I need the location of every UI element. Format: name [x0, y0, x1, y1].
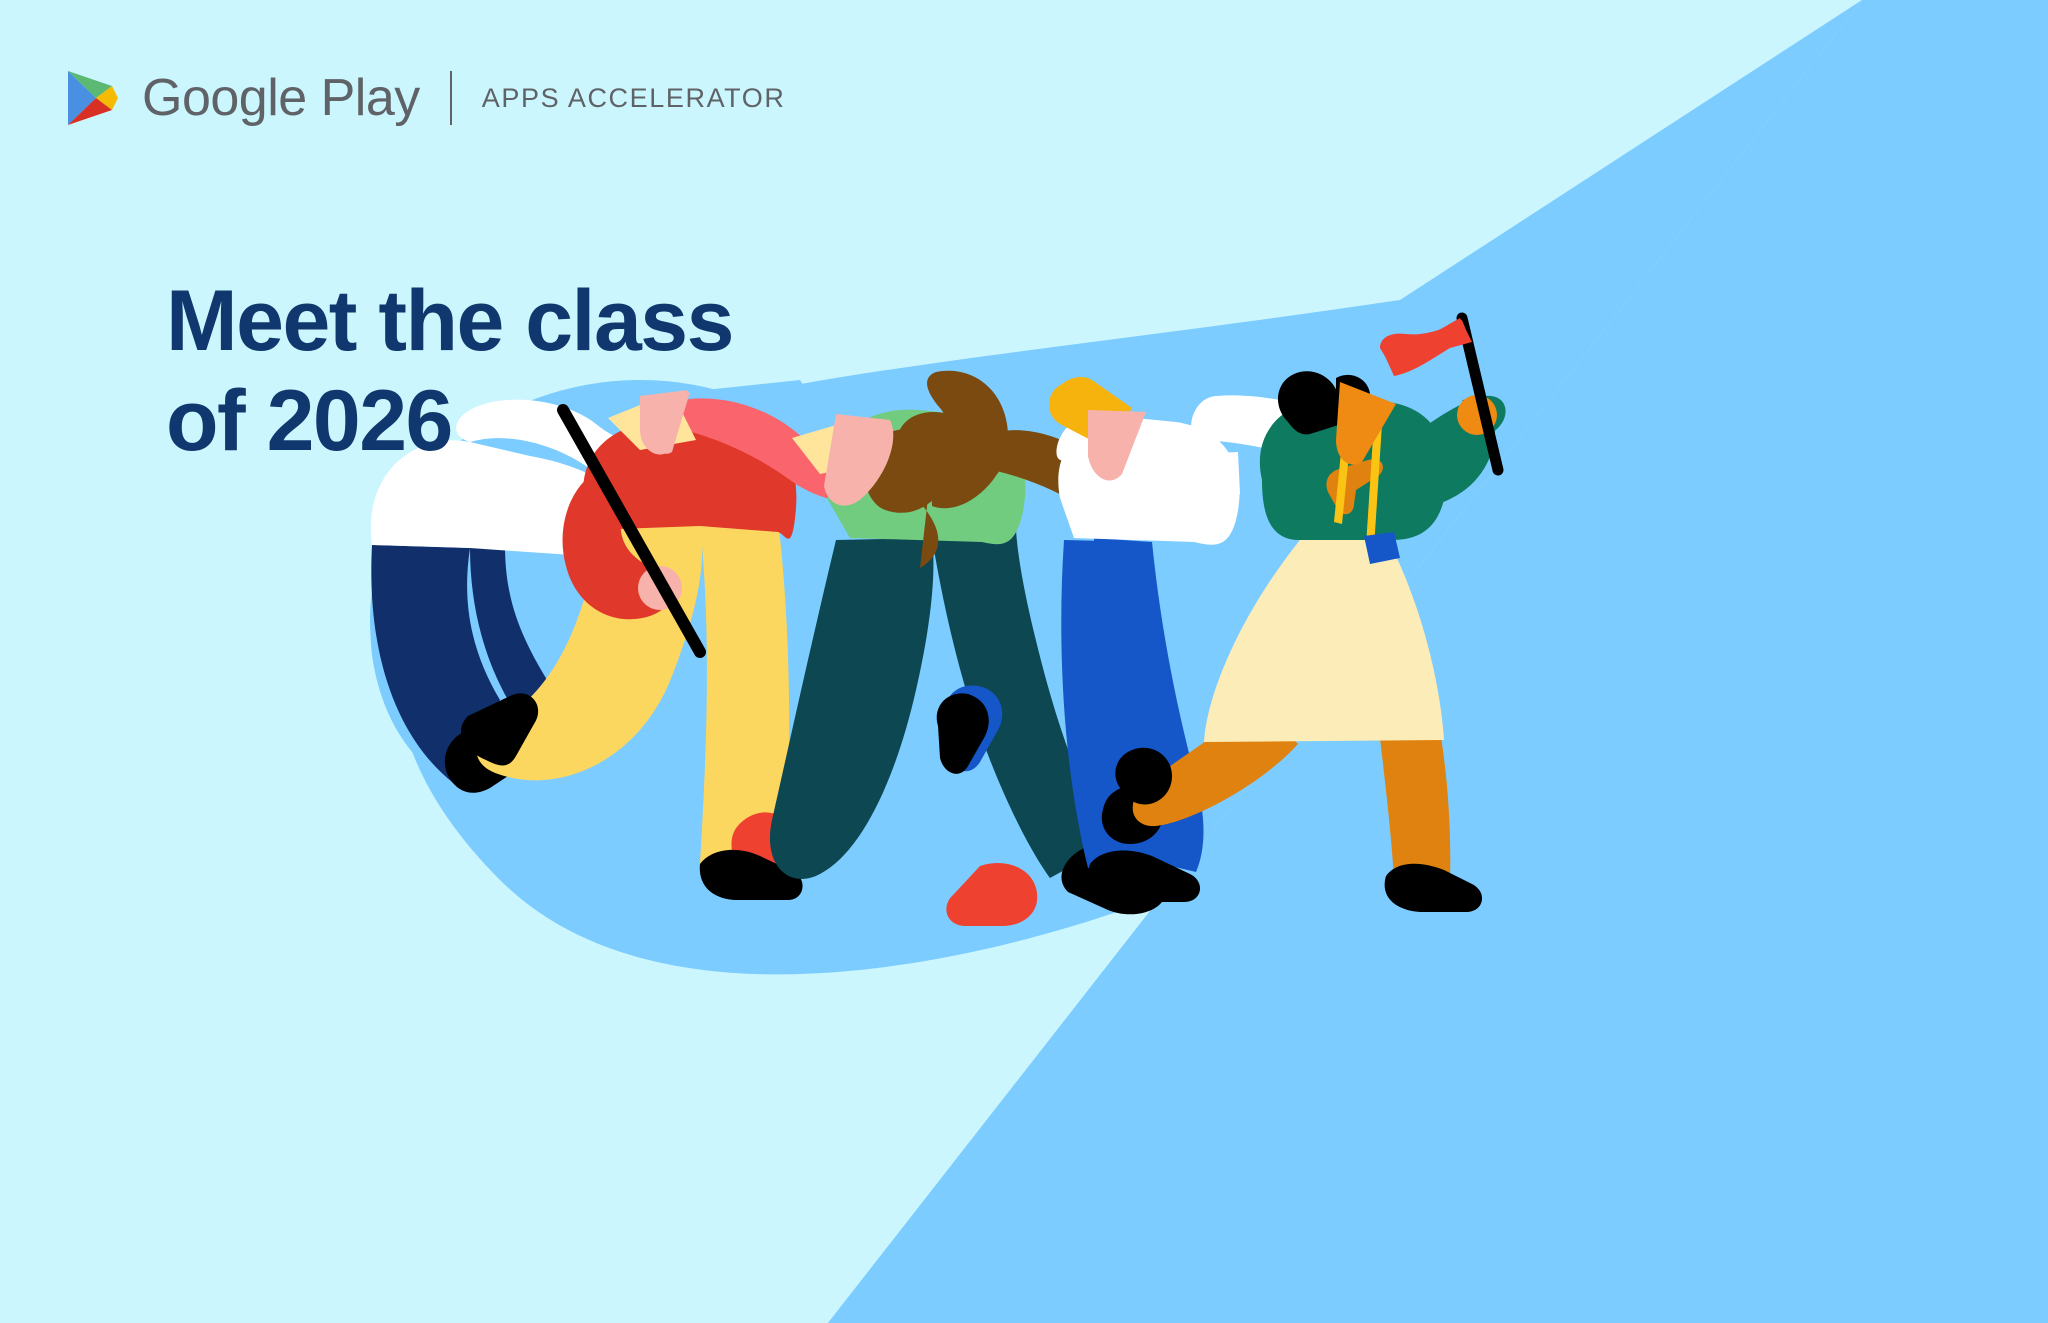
google-play-triangle-icon[interactable]: [66, 68, 120, 128]
poster-canvas: Google Play APPS ACCELERATOR Meet the cl…: [0, 0, 2048, 1323]
header-divider: [450, 71, 452, 125]
apps-accelerator-label: APPS ACCELERATOR: [482, 83, 786, 114]
page-title: Meet the class of 2026: [166, 272, 733, 472]
illustration-artboard: [0, 0, 2048, 1323]
google-play-wordmark: Google Play: [142, 72, 420, 124]
brand-header: Google Play APPS ACCELERATOR: [66, 62, 786, 134]
